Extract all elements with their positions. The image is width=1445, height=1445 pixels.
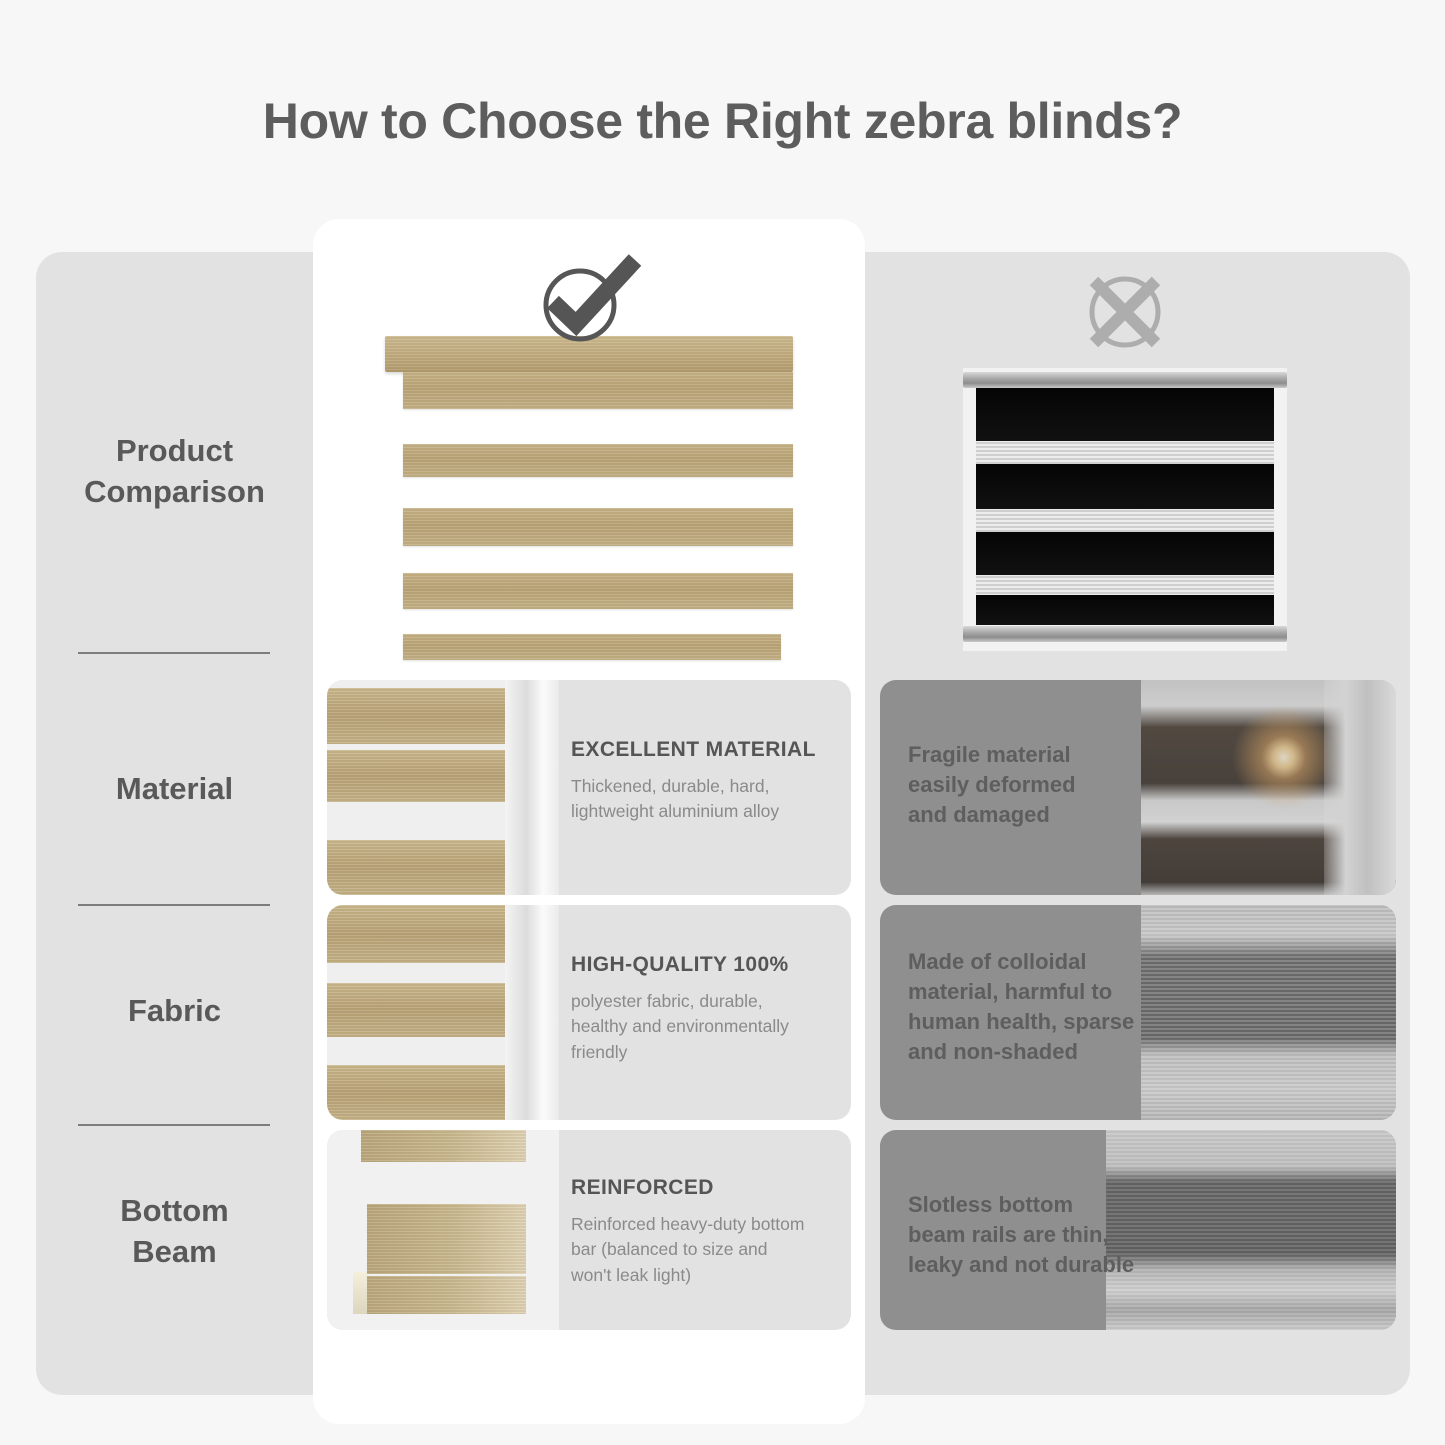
blind-band-sheer — [976, 575, 1274, 595]
photo-sun-leaking-through-blind — [1141, 680, 1396, 895]
check-circle-icon — [533, 252, 645, 344]
feature-body: Thickened, durable, hard, lightweight al… — [571, 774, 833, 825]
feature-text: Slotless bottom beam rails are thin, lea… — [908, 1190, 1158, 1280]
page-title: How to Choose the Right zebra blinds? — [0, 92, 1445, 150]
blind-bottom-bar — [403, 634, 781, 660]
feature-card-material-bad: Fragile material easily deformed and dam… — [880, 680, 1396, 895]
hero-image-beige-blind — [385, 336, 793, 666]
blind-band-opaque — [976, 464, 1274, 509]
blind-band-sheer — [976, 509, 1274, 532]
feature-body: Reinforced heavy-duty bottom bar (balanc… — [571, 1212, 847, 1288]
photo-beige-fabric-closeup — [327, 905, 559, 1120]
feature-body: polyester fabric, durable, healthy and e… — [571, 989, 841, 1065]
blind-band-sheer — [976, 441, 1274, 464]
row-label-product-comparison: Product Comparison — [36, 430, 313, 512]
photo-reinforced-bottom-bar-closeup — [327, 1130, 559, 1330]
row-label-fabric: Fabric — [36, 990, 313, 1031]
hero-image-black-blind — [963, 368, 1287, 651]
blind-slat — [403, 372, 793, 409]
cross-circle-icon — [1077, 268, 1173, 356]
feature-text: Fragile material easily deformed and dam… — [908, 740, 1148, 830]
blind-slat — [403, 444, 793, 477]
row-label-bottom-beam: Bottom Beam — [36, 1190, 313, 1272]
row-divider — [78, 1124, 270, 1126]
blind-slat — [403, 573, 793, 609]
row-label-column: Product Comparison Material Fabric Botto… — [36, 252, 313, 1395]
feature-card-bottom-beam-good: REINFORCED Reinforced heavy-duty bottom … — [327, 1130, 851, 1330]
blind-band-opaque — [976, 532, 1274, 575]
feature-title: EXCELLENT MATERIAL — [571, 738, 833, 762]
feature-card-fabric-good: HIGH-QUALITY 100% polyester fabric, dura… — [327, 905, 851, 1120]
blind-bottom-rail — [963, 626, 1287, 642]
row-divider — [78, 652, 270, 654]
photo-sparse-black-sheer-fabric — [1141, 905, 1396, 1120]
blind-headrail — [963, 372, 1287, 388]
photo-beige-blind-in-window-frame — [327, 680, 559, 895]
feature-card-material-good: EXCELLENT MATERIAL Thickened, durable, h… — [327, 680, 851, 895]
feature-title: REINFORCED — [571, 1176, 847, 1200]
blind-band-opaque — [976, 595, 1274, 625]
row-divider — [78, 904, 270, 906]
feature-text: Made of colloidal material, harmful to h… — [908, 947, 1158, 1068]
blind-band-opaque — [976, 388, 1274, 441]
blind-slat — [403, 508, 793, 546]
feature-card-bottom-beam-bad: Slotless bottom beam rails are thin, lea… — [880, 1130, 1396, 1330]
row-label-material: Material — [36, 768, 313, 809]
feature-title: HIGH-QUALITY 100% — [571, 953, 841, 977]
feature-card-fabric-bad: Made of colloidal material, harmful to h… — [880, 905, 1396, 1120]
